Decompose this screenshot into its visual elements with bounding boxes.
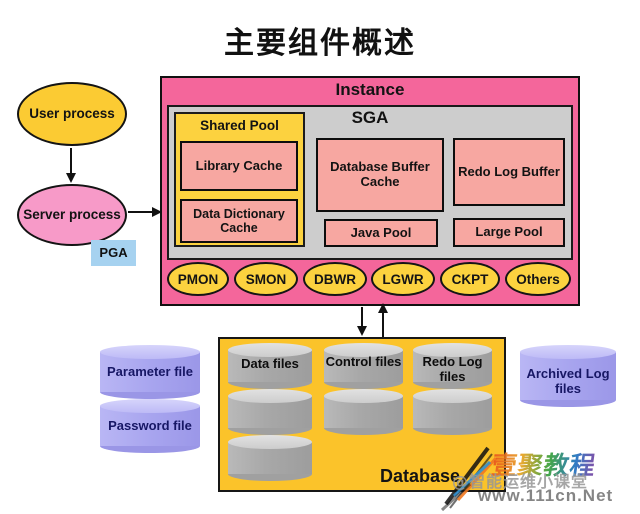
database-buffer-cache-box: Database Buffer Cache [316, 138, 444, 212]
bgproc-smon: SMON [234, 262, 298, 296]
bgproc-lgwr: LGWR [371, 262, 435, 296]
library-cache-box: Library Cache [180, 141, 298, 191]
shared-pool-label: Shared Pool [200, 118, 279, 133]
cylinder-control-files: Control files [324, 343, 403, 435]
arrow-user-to-server-line [70, 148, 72, 174]
cylinder-redo-log-files: Redo Log files [413, 343, 492, 435]
arrow-server-to-instance-line [128, 211, 154, 213]
diagram-canvas: 主要组件概述 Instance SGA Shared Pool Library … [0, 0, 640, 514]
instance-label: Instance [160, 80, 580, 100]
cylinder-archived-log-files: Archived Log files [520, 345, 616, 407]
arrow-user-to-server-head [66, 173, 76, 183]
user-process-node: User process [17, 82, 127, 146]
pga-box: PGA [91, 240, 136, 266]
large-pool-box: Large Pool [453, 218, 565, 247]
cylinder-parameter-password-files: Parameter file Password file [100, 345, 200, 453]
bgproc-others: Others [505, 262, 571, 296]
arrow-database-to-instance-line [382, 312, 384, 337]
bgproc-ckpt: CKPT [440, 262, 500, 296]
data-dictionary-cache-box: Data Dictionary Cache [180, 199, 298, 243]
arrow-database-to-instance-head [378, 303, 388, 313]
arrow-instance-to-database-head [357, 326, 367, 336]
sga-label: SGA [300, 108, 440, 128]
java-pool-box: Java Pool [324, 219, 438, 247]
redo-log-buffer-box: Redo Log Buffer [453, 138, 565, 206]
bgproc-dbwr: DBWR [303, 262, 367, 296]
page-title: 主要组件概述 [0, 18, 640, 62]
bgproc-pmon: PMON [167, 262, 229, 296]
cylinder-data-files: Data files [228, 343, 312, 481]
database-label: Database [380, 466, 460, 487]
arrow-server-to-instance-head [152, 207, 162, 217]
server-process-node: Server process [17, 184, 127, 246]
